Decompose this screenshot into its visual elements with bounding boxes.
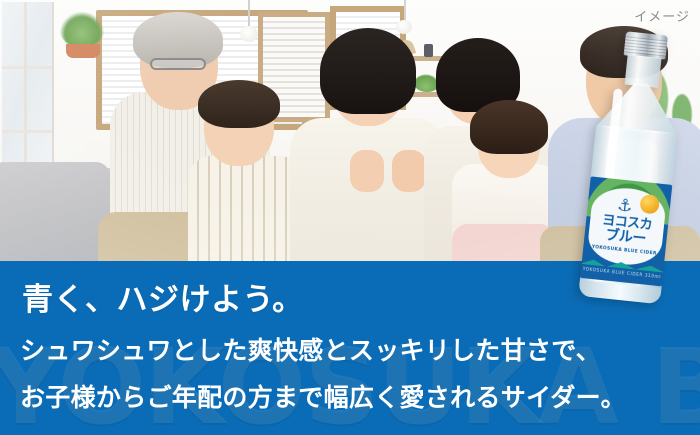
eyeglasses-icon xyxy=(150,58,206,70)
grandmother-hand-left xyxy=(350,150,384,192)
flower-pot-icon xyxy=(66,44,100,58)
pendant-light-icon xyxy=(240,26,258,42)
headline-text: 青く、ハジけよう。 xyxy=(22,274,304,319)
grandmother-hair xyxy=(320,28,416,114)
pendant-cord-2 xyxy=(404,0,406,22)
pendant-cord xyxy=(248,0,250,28)
image-note-caption: イメージ xyxy=(634,6,690,25)
sofa-arm-left xyxy=(0,162,110,262)
frame-ornament-icon xyxy=(424,44,433,57)
bottle-neck xyxy=(625,55,662,88)
subline-1-text: シュワシュワとした爽快感とスッキリした甘さで、 xyxy=(20,331,601,367)
subline-2-text: お子様からご年配の方まで幅広く愛されるサイダー。 xyxy=(20,378,626,414)
pendant-light-icon-2 xyxy=(396,20,412,34)
hanging-plant-icon xyxy=(60,12,104,48)
promo-banner-image: イメージ YOKOSUKA BLUE 青く、ハジけよう。 シュワシュワとした爽快… xyxy=(0,0,700,435)
grandmother-hand-right xyxy=(392,150,426,192)
girl-hair xyxy=(470,100,548,154)
bottle-label: ⚓ ヨコスカ ブルー YOKOSUKA BLUE CIDER YOKOSUKA … xyxy=(580,176,672,286)
boy-hair xyxy=(198,80,280,128)
boy-torso xyxy=(188,156,304,262)
